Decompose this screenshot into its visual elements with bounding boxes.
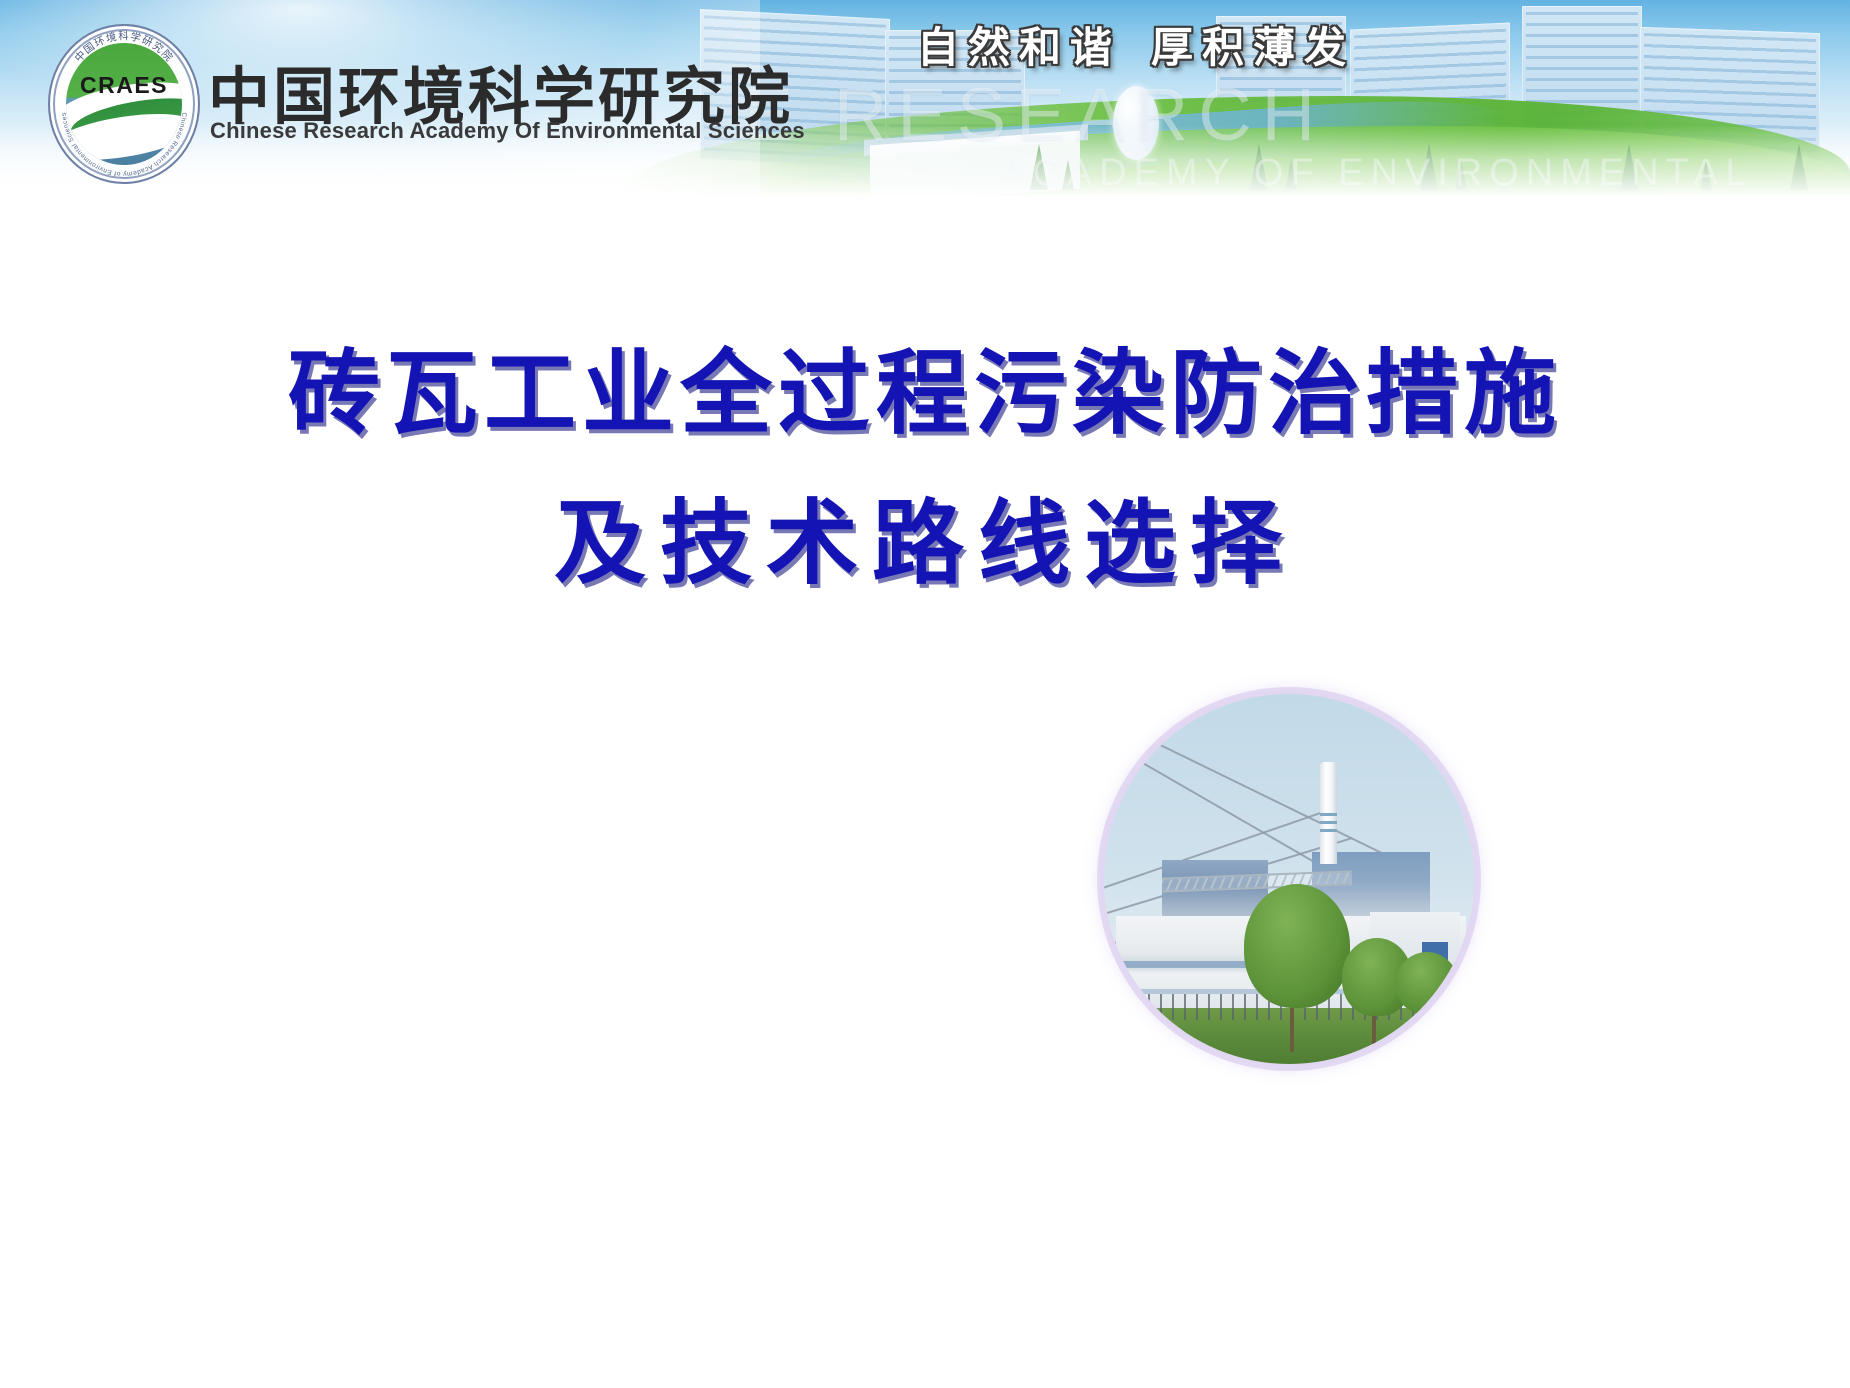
chimney-band	[1320, 813, 1337, 816]
chimney-band	[1320, 829, 1337, 832]
slide-title-block: 砖瓦工业全过程污染防治措施 及技术路线选择	[0, 318, 1850, 618]
chimney-band	[1320, 821, 1337, 824]
slide-title-line-1: 砖瓦工业全过程污染防治措施	[0, 318, 1850, 468]
slide-header-banner: E RESEARCH ACADEMY OF ENVIRONMENTAL 中国环境…	[0, 0, 1850, 196]
presentation-slide: E RESEARCH ACADEMY OF ENVIRONMENTAL 中国环境…	[0, 0, 1850, 1388]
slogan-part-two: 厚积薄发	[1151, 23, 1355, 72]
foreground-tree	[1244, 884, 1350, 1008]
craes-logo: 中国环境科学研究院 Chinese Research Academy of En…	[48, 24, 200, 184]
logo-acronym: CRAES	[48, 72, 200, 99]
slogan-part-one: 自然和谐	[917, 23, 1121, 72]
organization-name-english: Chinese Research Academy Of Environmenta…	[210, 118, 805, 144]
industrial-plant-photo	[1104, 694, 1474, 1064]
header-slogan: 自然和谐厚积薄发	[917, 14, 1355, 75]
background-tree	[1396, 952, 1458, 1014]
slide-title-line-2: 及技术路线选择	[0, 468, 1850, 618]
logo-emblem	[66, 43, 182, 165]
